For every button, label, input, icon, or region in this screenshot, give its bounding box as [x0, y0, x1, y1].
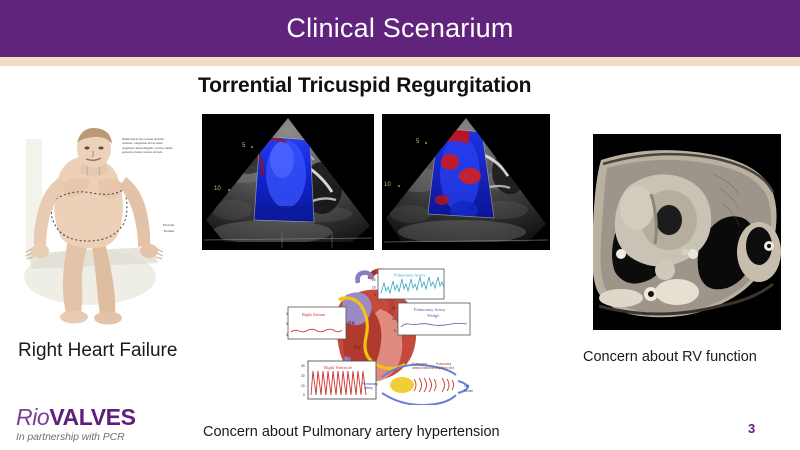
- cath-diagram-svg: RA RV Pulmonary Artery 30 20 10 0 Pulmon…: [286, 265, 486, 405]
- svg-text:0: 0: [374, 293, 376, 297]
- slide: Clinical Scenarium Torrential Tricuspid …: [0, 0, 800, 450]
- panel-right-ventricle: Right Ventricle 30 20 10 0: [301, 361, 376, 399]
- svg-text:0: 0: [286, 333, 288, 337]
- svg-text:10: 10: [286, 322, 288, 326]
- panel-pulmonary-artery: Pulmonary Artery 30 20 10 0: [372, 269, 444, 299]
- patient-illustration: Insuficiencia del corazon derecho: ciano…: [12, 127, 180, 327]
- svg-text:20: 20: [392, 306, 396, 310]
- svg-text:0: 0: [303, 393, 305, 397]
- logo-valves-text: VALVES: [49, 404, 135, 430]
- echo-1-depth-10: 10: [214, 186, 221, 192]
- illustration-annotation-text: Insuficiencia del corazon derecho: ciano…: [122, 137, 176, 155]
- panel-label-right-ventricle: Right Ventricle: [324, 365, 352, 370]
- svg-text:30: 30: [372, 271, 376, 275]
- anatomy-label-ra: RA: [348, 321, 356, 327]
- echo-color-doppler-1: 5 10: [202, 114, 374, 250]
- svg-text:20: 20: [286, 312, 288, 316]
- caption-right-heart-failure: Right Heart Failure: [18, 340, 177, 362]
- svg-text:20: 20: [372, 278, 376, 282]
- echo-1-svg: 5 10: [202, 114, 374, 250]
- anatomy-label-pa-branches-2: arterial branches: [412, 366, 436, 370]
- logo-wordmark: RioVALVES: [16, 406, 136, 429]
- svg-text:0: 0: [394, 329, 396, 333]
- svg-text:30: 30: [301, 364, 305, 368]
- anatomy-label-capillary-2: capillary bed: [436, 366, 454, 370]
- svg-text:20: 20: [301, 374, 305, 378]
- cardiac-mri-image: [593, 134, 781, 330]
- illustration-side-label-bottom: Normal: [164, 229, 174, 233]
- echo-2-svg: 5 10: [382, 114, 550, 250]
- panel-label-pulmonary-artery: Pulmonary Artery: [394, 273, 426, 278]
- echo-color-doppler-2: 5 10: [382, 114, 550, 250]
- mri-svg: [593, 134, 781, 330]
- svg-text:10: 10: [372, 286, 376, 290]
- illustration-side-label-top: Elevada: [163, 223, 174, 227]
- logo-rio-text: Rio: [16, 404, 49, 430]
- panel-label-pa-wedge-2: Wedge: [427, 313, 439, 318]
- svg-text:10: 10: [392, 317, 396, 321]
- cath-pressure-diagram: RA RV Pulmonary Artery 30 20 10 0 Pulmon…: [286, 265, 486, 405]
- illustration-side-label: Elevada Normal: [128, 223, 174, 235]
- accent-stripe: [0, 57, 800, 66]
- panel-label-pa-wedge-1: Pulmonary Artery: [414, 307, 446, 312]
- anatomy-label-rv: RV: [354, 345, 362, 351]
- caption-pulmonary-hypertension: Concern about Pulmonary artery hypertens…: [203, 424, 500, 440]
- anatomy-label-left-atrium-1: Left: [464, 384, 469, 388]
- panel-pulmonary-artery-wedge: Pulmonary Artery Wedge 20 10 0: [392, 303, 470, 335]
- panel-label-right-atrium: Right Atrium: [302, 312, 326, 317]
- svg-text:10: 10: [301, 384, 305, 388]
- anatomy-label-pulmonary-artery-2: Artery: [364, 386, 373, 390]
- riovalves-logo: RioVALVES In partnership with PCR: [16, 406, 136, 443]
- slide-title-bar: Clinical Scenarium: [0, 0, 800, 57]
- anatomy-label-left-atrium-2: Atrium: [464, 389, 474, 393]
- page-title: Clinical Scenarium: [286, 13, 513, 44]
- logo-tagline: In partnership with PCR: [16, 431, 136, 443]
- page-number: 3: [748, 421, 755, 436]
- echo-2-depth-10: 10: [384, 182, 391, 188]
- section-heading: Torrential Tricuspid Regurgitation: [198, 74, 531, 98]
- panel-right-atrium: Right Atrium 20 10 0: [286, 307, 346, 339]
- caption-rv-function: Concern about RV function: [583, 349, 757, 365]
